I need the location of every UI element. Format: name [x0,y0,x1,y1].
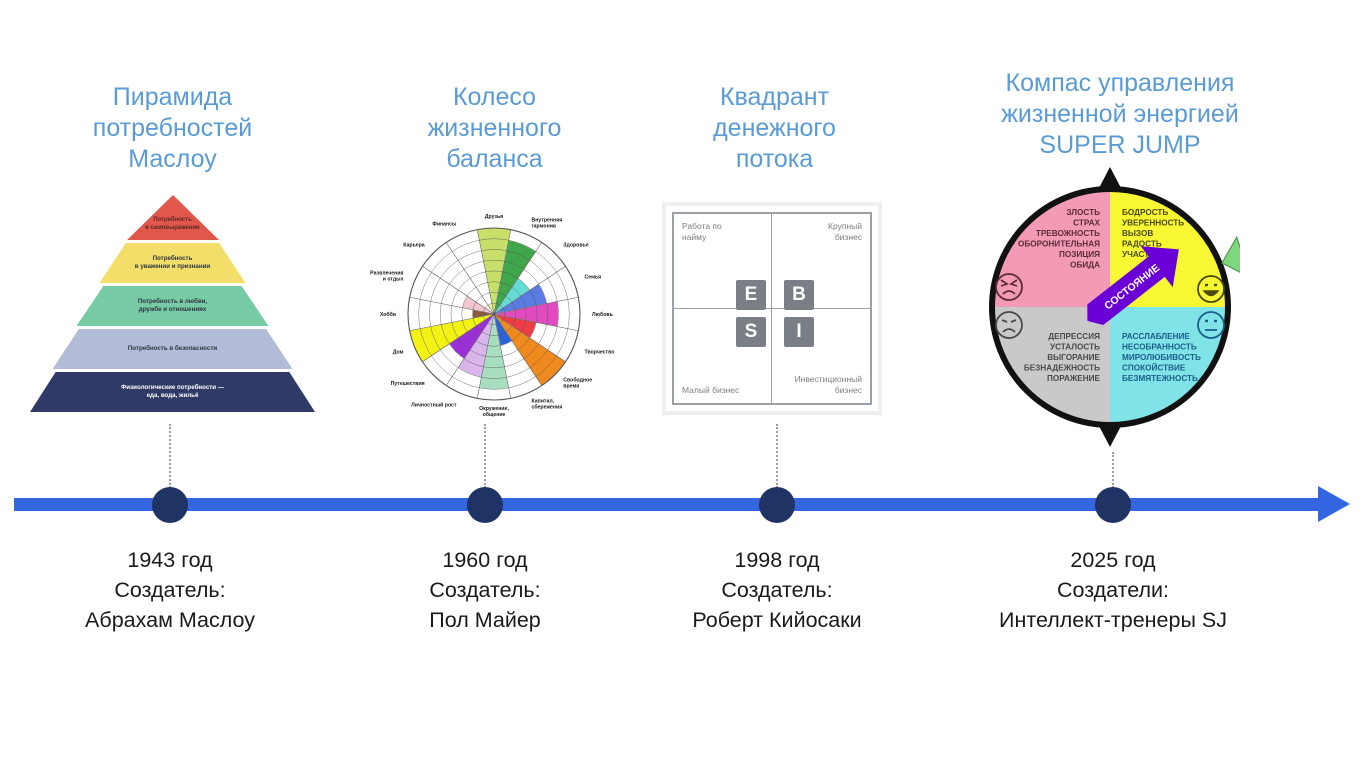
pyramid-level-label: Потребность в самовыражении [30,217,315,232]
title-line: Пирамида [30,82,315,113]
timeline-year: 1998 год [617,545,937,575]
wheel-sector-label: Окружение,общение [479,406,509,418]
wheel-sector-label: Семья [585,274,602,280]
timeline-caption-1960: 1960 год Создатель: Пол Майер [325,545,645,635]
quadrant-badge-b: B [784,280,814,310]
timeline-connector [1112,452,1114,488]
label-line: Малый бизнес [682,385,739,396]
wheel-sector-label: Развлеченияи отдых [370,270,403,282]
maslow-pyramid: Потребность в самовыражении Потребность … [30,195,315,420]
wheel-sector-label: Карьера [403,243,425,249]
wheel-svg: ДрузьяВнутренняягармонияЗдоровьеСемьяЛюб… [352,196,637,424]
label-line: бизнес [828,232,862,243]
pyramid-band: Потребность в любви, дружбе и отношениях [77,286,269,326]
title-line: баланса [352,144,637,175]
timeline-connector [484,424,486,488]
quadrant-grid: Работа по найму Крупный бизнес Малый биз… [672,212,872,405]
quadrant-badge-i: I [784,317,814,347]
wheel-sector-label: Личностный рост [411,401,457,408]
label-line: еда, вода, жильё [121,392,224,400]
label-line: Потребность в безопасности [128,345,217,353]
column-title-wheel: Колесо жизненного баланса [352,82,637,175]
label-line: Физиологические потребности — [121,384,224,392]
label-line: найму [682,232,722,243]
timeline-caption-1943: 1943 год Создатель: Абрахам Маслоу [10,545,330,635]
timeline-year: 1960 год [325,545,645,575]
timeline-arrow-icon [1318,486,1350,522]
cashflow-quadrant: Работа по найму Крупный бизнес Малый биз… [662,202,882,415]
wheel-sector-label: Внутренняягармония [532,217,563,229]
timeline-connector [776,424,778,488]
wheel-sector-label: Финансы [432,221,457,227]
label-line: Потребность в любви, [138,298,207,306]
life-balance-wheel: ДрузьяВнутренняягармонияЗдоровьеСемьяЛюб… [352,196,637,424]
timeline-creator-label: Создатели: [953,575,1273,605]
super-jump-compass: ЗЛОСТЬСТРАХТРЕВОЖНОСТЬОБОРОНИТЕЛЬНАЯПОЗИ… [988,163,1240,451]
wheel-sector-label: Хобби [380,311,396,318]
timeline-creator-name: Роберт Кийосаки [617,605,937,635]
wheel-sector-label: Любовь [592,311,613,318]
wheel-sector-label: Друзья [485,214,503,220]
wheel-sector-label: Здоровье [563,243,588,249]
timeline-creator-name: Интеллект-тренеры SJ [953,605,1273,635]
pyramid-level-2: Потребность в уважении и признании [30,243,315,283]
wheel-sector-label: Дом [393,349,404,355]
column-title-maslow: Пирамида потребностей Маслоу [30,82,315,175]
quadrant-label-business: Крупный бизнес [828,221,862,243]
quadrant-label-employee: Работа по найму [682,221,722,243]
title-line: Колесо [352,82,637,113]
timeline-node-1998[interactable] [759,487,795,523]
title-line: жизненного [352,113,637,144]
pyramid-level-1: Потребность в самовыражении [30,195,315,240]
quadrant-badge-e: E [736,280,766,310]
timeline-creator-name: Абрахам Маслоу [10,605,330,635]
compass-pointer-top [1099,167,1121,188]
label-line: Потребность [135,255,210,263]
wheel-sector-label: Путешествия [391,381,425,387]
timeline-creator-name: Пол Майер [325,605,645,635]
timeline-node-1960[interactable] [467,487,503,523]
pyramid-level-4: Потребность в безопасности [30,329,315,369]
quadrant-label-investor: Инвестиционный бизнес [795,374,862,396]
label-line: Работа по [682,221,722,232]
timeline-year: 1943 год [10,545,330,575]
label-line: в уважении и признании [135,263,210,271]
timeline-connector [169,424,171,488]
wheel-sector-label: Свободноевремя [563,376,592,389]
timeline-creator-label: Создатель: [617,575,937,605]
title-line: Компас управления [955,68,1285,99]
compass-words-calm: РАССЛАБЛЕНИЕНЕСОБРАННОСТЬМИРОЛЮБИВОСТЬСП… [1122,332,1201,383]
title-line: потребностей [30,113,315,144]
timeline-caption-1998: 1998 год Создатель: Роберт Кийосаки [617,545,937,635]
wheel-sector-label: Творчество [585,349,615,355]
column-title-cashflow: Квадрант денежного потока [632,82,917,175]
title-line: Квадрант [632,82,917,113]
label-line: Потребность [30,217,315,225]
pyramid-band: Потребность в безопасности [53,329,293,369]
title-line: потока [632,144,917,175]
compass-pointer-bottom [1099,426,1121,447]
label-line: Крупный [828,221,862,232]
title-line: денежного [632,113,917,144]
quadrant-badge-s: S [736,317,766,347]
timeline-node-2025[interactable] [1095,487,1131,523]
pyramid-level-5: Физиологические потребности — еда, вода,… [30,372,315,412]
column-title-compass: Компас управления жизненной энергией SUP… [955,68,1285,161]
timeline-creator-label: Создатель: [325,575,645,605]
timeline-caption-2025: 2025 год Создатели: Интеллект-тренеры SJ [953,545,1273,635]
timeline-infographic: Пирамида потребностей Маслоу Колесо жизн… [0,0,1366,758]
quadrant-label-selfemployed: Малый бизнес [682,385,739,396]
compass-svg: ЗЛОСТЬСТРАХТРЕВОЖНОСТЬОБОРОНИТЕЛЬНАЯПОЗИ… [988,163,1240,451]
label-line: дружбе и отношениях [138,306,207,314]
pyramid-band: Физиологические потребности — еда, вода,… [30,372,315,412]
label-line: в самовыражении [30,225,315,233]
title-line: SUPER JUMP [955,130,1285,161]
timeline-year: 2025 год [953,545,1273,575]
timeline-node-1943[interactable] [152,487,188,523]
label-line: Инвестиционный [795,374,862,385]
timeline-creator-label: Создатель: [10,575,330,605]
title-line: жизненной энергией [955,99,1285,130]
pyramid-band: Потребность в уважении и признании [100,243,246,283]
label-line: бизнес [795,385,862,396]
pyramid-level-3: Потребность в любви, дружбе и отношениях [30,286,315,326]
title-line: Маслоу [30,144,315,175]
wheel-sector-label: Капитал,сбережения [532,399,563,411]
